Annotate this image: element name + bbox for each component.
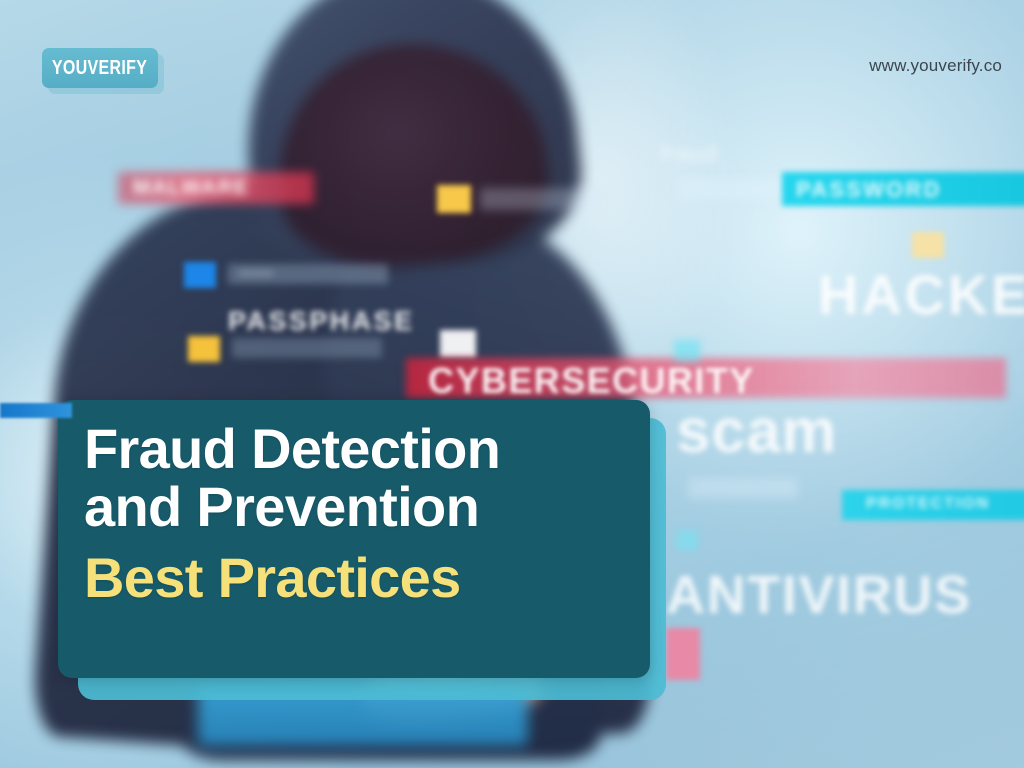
- youverify-logo[interactable]: YOUVERIFY: [42, 48, 158, 88]
- title-line-2: and Prevention: [84, 478, 644, 536]
- banner-canvas: MALWARE •••••• PASSPHASE fraud PASSWORD …: [0, 0, 1024, 768]
- title-line-3: Best Practices: [84, 549, 644, 607]
- title-line-1: Fraud Detection: [84, 420, 644, 478]
- logo-text: YOUVERIFY: [52, 57, 147, 80]
- title-text-block: Fraud Detection and Prevention Best Prac…: [84, 420, 644, 607]
- site-url[interactable]: www.youverify.co: [869, 56, 1002, 76]
- accent-bar-blue: [0, 403, 72, 418]
